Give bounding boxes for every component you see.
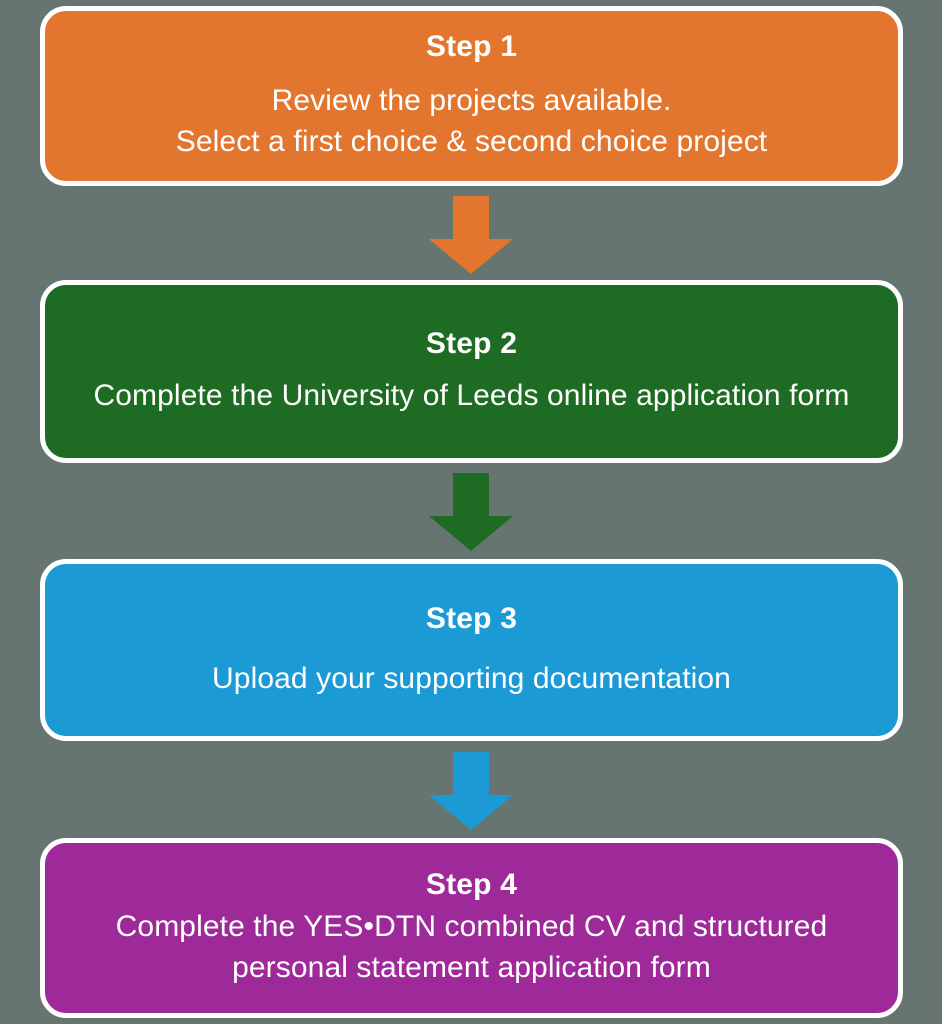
step-box-1: Step 1 Review the projects available. Se… — [40, 6, 903, 186]
down-arrow-icon-3 — [429, 752, 513, 830]
step-4-body: Complete the YES•DTN combined CV and str… — [63, 907, 880, 989]
step-2-title: Step 2 — [426, 326, 517, 362]
down-arrow-icon-2 — [429, 473, 513, 551]
step-box-4: Step 4 Complete the YES•DTN combined CV … — [40, 838, 903, 1018]
step-1-title: Step 1 — [426, 29, 517, 65]
step-1-body: Review the projects available. Select a … — [176, 81, 767, 163]
step-box-2: Step 2 Complete the University of Leeds … — [40, 280, 903, 463]
down-arrow-icon-1 — [429, 196, 513, 274]
step-4-title: Step 4 — [426, 867, 517, 903]
step-2-body: Complete the University of Leeds online … — [94, 376, 850, 417]
flowchart-diagram: Step 1 Review the projects available. Se… — [0, 0, 942, 1024]
step-box-3: Step 3 Upload your supporting documentat… — [40, 559, 903, 741]
step-3-title: Step 3 — [426, 601, 517, 637]
step-3-body: Upload your supporting documentation — [212, 659, 731, 700]
